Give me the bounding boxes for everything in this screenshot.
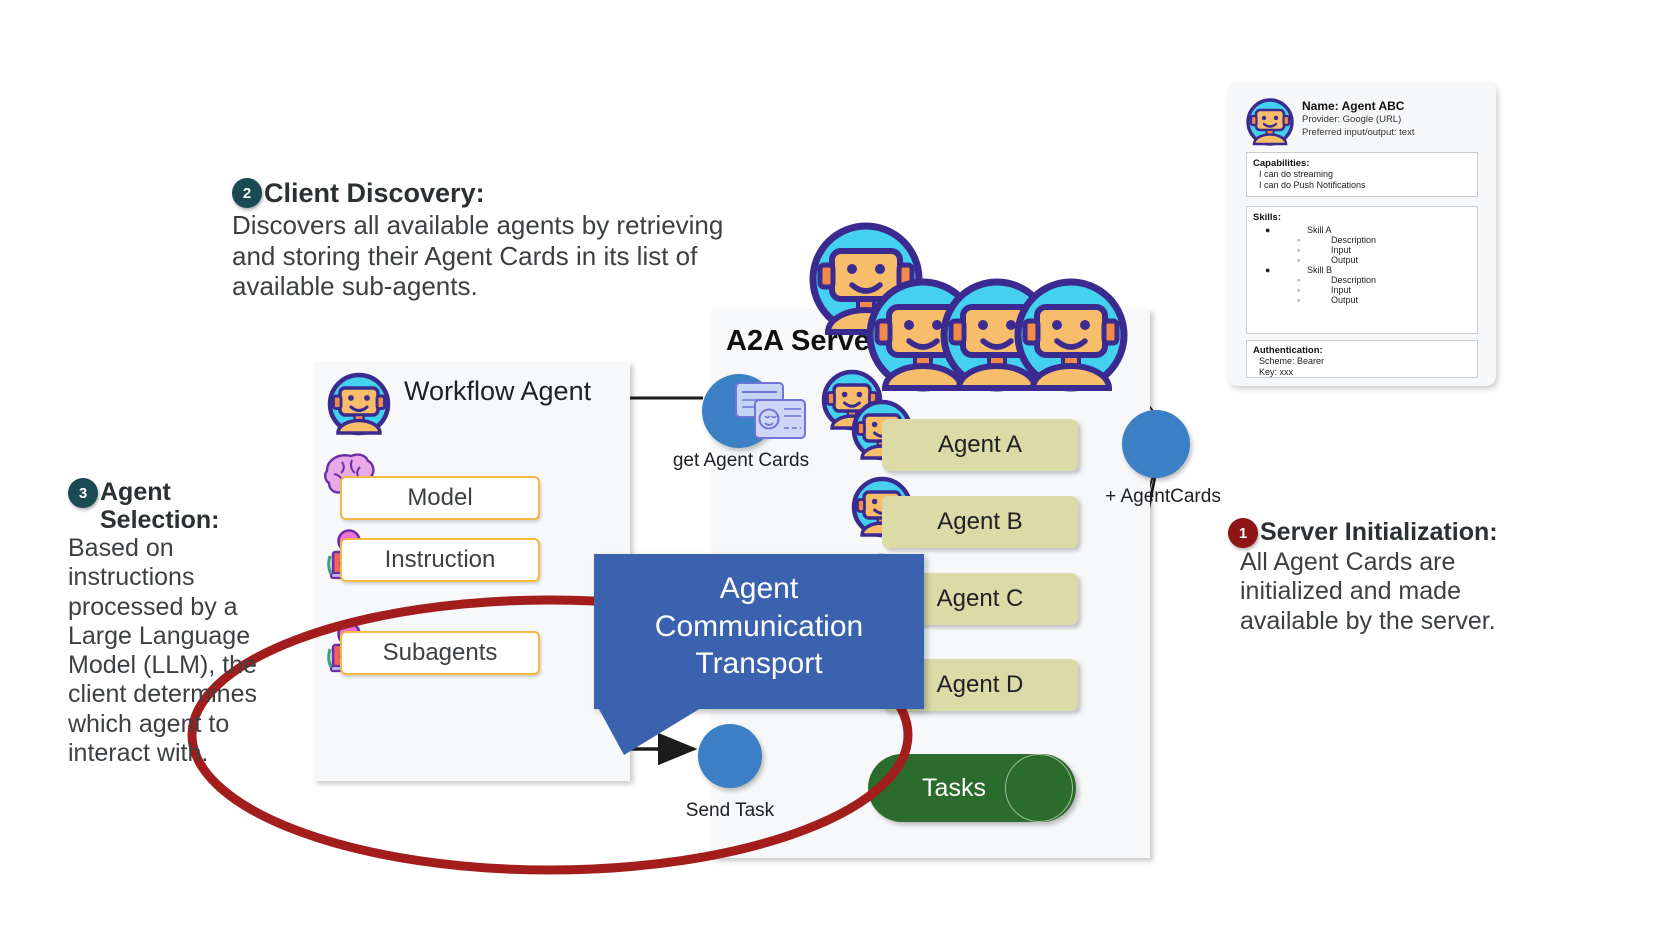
agent-card-preferred: Preferred input/output: text <box>1302 126 1414 139</box>
add-agent-cards-node[interactable] <box>1122 410 1190 478</box>
agent-row-b[interactable]: Agent B <box>882 496 1078 548</box>
skill-item: ●Skill A <box>1265 225 1477 235</box>
skill-sub-item: ◦Input <box>1297 245 1477 255</box>
step-1-badge: 1 <box>1228 518 1258 548</box>
capabilities-title: Capabilities: <box>1253 158 1477 169</box>
step-2-title: Client Discovery: <box>264 178 485 208</box>
field-label: Model <box>407 484 472 512</box>
callout-text: Agent Communication Transport <box>594 570 924 683</box>
callout-line-2: Communication <box>594 608 924 646</box>
get-agent-cards-label: get Agent Cards <box>662 450 820 472</box>
step-3-title: Agent Selection: <box>100 478 273 534</box>
step-2-body: Discovers all available agents by retrie… <box>232 210 732 301</box>
field-instruction[interactable]: Instruction <box>340 538 540 582</box>
add-agent-cards-label: + AgentCards <box>1098 486 1228 508</box>
step-1-callout: 1 Server Initialization: All Agent Cards… <box>1228 518 1528 636</box>
skill-sub-item: ◦Description <box>1297 275 1477 285</box>
step-3-body: Based on instructions processed by a Lar… <box>68 534 273 768</box>
skill-sub-item: ◦Description <box>1297 235 1477 245</box>
skill-sub-item: ◦Output <box>1297 295 1477 305</box>
agent-card-provider: Provider: Google (URL) <box>1302 113 1414 126</box>
send-task-label: Send Task <box>660 800 800 822</box>
agent-row-label: Agent B <box>937 508 1022 536</box>
callout-line-3: Transport <box>594 645 924 683</box>
field-label: Instruction <box>385 546 496 574</box>
tasks-label: Tasks <box>868 754 1040 822</box>
auth-title: Authentication: <box>1253 345 1477 356</box>
callout-tail <box>594 700 714 755</box>
skill-item: ●Skill B <box>1265 265 1477 275</box>
step-3-callout: 3 Agent Selection: Based on instructions… <box>68 478 273 768</box>
auth-item: Scheme: Bearer <box>1259 356 1477 367</box>
agent-card-auth-section: Authentication: Scheme: Bearer Key: xxx <box>1246 340 1478 378</box>
agent-row-label: Agent C <box>937 585 1024 613</box>
workflow-agent-title: Workflow Agent <box>404 376 591 407</box>
field-subagents[interactable]: Subagents <box>340 631 540 675</box>
skill-sub-item: ◦Output <box>1297 255 1477 265</box>
agent-cards-icon <box>735 382 807 440</box>
step-2-callout: 2 Client Discovery: Discovers all availa… <box>232 178 732 301</box>
agent-avatar-cluster <box>866 279 1128 391</box>
agent-row-label: Agent A <box>938 431 1022 459</box>
skills-title: Skills: <box>1253 212 1477 223</box>
step-2-heading: 2 Client Discovery: <box>232 178 732 208</box>
agent-card-skills-section: Skills: ●Skill A ◦Description ◦Input ◦Ou… <box>1246 206 1478 334</box>
agent-row-a[interactable]: Agent A <box>882 419 1078 471</box>
step-1-heading: 1 Server Initialization: <box>1228 518 1528 548</box>
step-1-body: All Agent Cards are initialized and made… <box>1228 548 1528 636</box>
field-model[interactable]: Model <box>340 476 540 520</box>
step-1-title: Server Initialization: <box>1260 518 1498 546</box>
step-3-badge: 3 <box>68 478 98 508</box>
skill-sub-item: ◦Input <box>1297 285 1477 295</box>
field-label: Subagents <box>383 639 498 667</box>
agent-row-label: Agent D <box>937 671 1024 699</box>
step-3-heading: 3 Agent Selection: <box>68 478 273 534</box>
auth-item: Key: xxx <box>1259 367 1477 378</box>
agent-card-name: Name: Agent ABC <box>1302 99 1414 113</box>
agent-card-capabilities-section: Capabilities: I can do streaming I can d… <box>1246 152 1478 197</box>
step-2-badge: 2 <box>232 178 262 208</box>
capability-item: I can do streaming <box>1259 169 1477 180</box>
capability-item: I can do Push Notifications <box>1259 180 1477 191</box>
workflow-agent-avatar <box>327 372 391 436</box>
callout-line-1: Agent <box>594 570 924 608</box>
agent-card-avatar <box>1246 98 1294 146</box>
agent-card-spec: Name: Agent ABC Provider: Google (URL) P… <box>1228 82 1496 386</box>
